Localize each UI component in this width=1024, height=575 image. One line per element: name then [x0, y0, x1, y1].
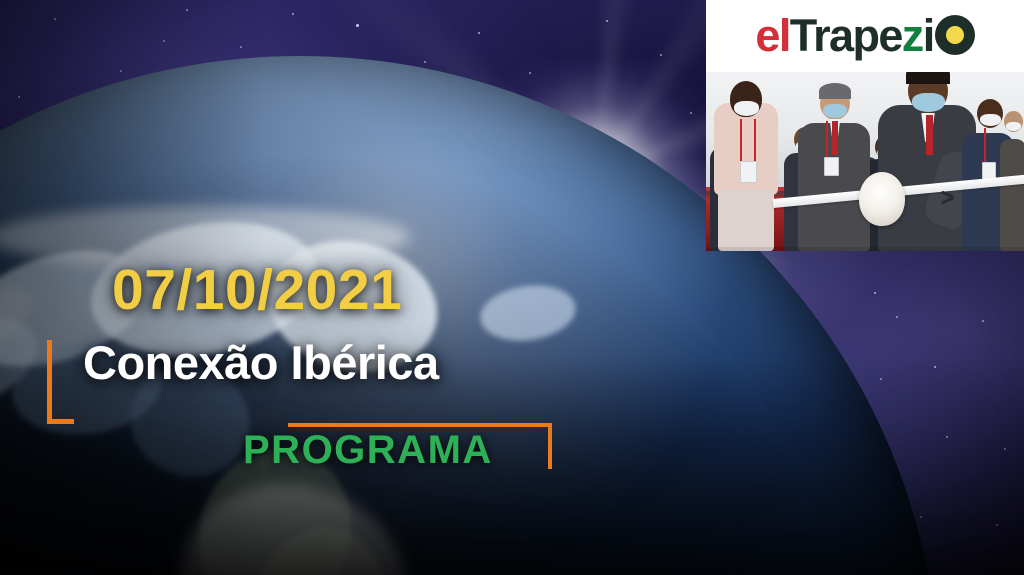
brand-text-el: el — [755, 13, 789, 58]
program-name: Conexão Ibérica — [83, 337, 439, 389]
brand-text-trape: Trape — [790, 13, 902, 58]
media-panel: el Trape z i — [706, 0, 1024, 251]
broadcast-date: 07/10/2021 — [112, 262, 567, 319]
photo-person-foreground-left — [714, 83, 778, 251]
brand-text-i: i — [923, 13, 934, 58]
brand-text-z: z — [902, 13, 923, 58]
program-kicker: PROGRAMA — [243, 430, 493, 470]
photo-rosette — [859, 172, 905, 226]
brand-letter-o-icon — [935, 15, 975, 55]
title-bracket-group: Conexão Ibérica PROGRAMA — [47, 340, 567, 468]
program-title-block: 07/10/2021 Conexão Ibérica PROGRAMA — [47, 262, 567, 468]
bracket-left-icon — [47, 340, 74, 424]
brand-logo-band: el Trape z i — [706, 0, 1024, 72]
news-photo — [706, 72, 1024, 251]
brand-o-dot — [946, 26, 964, 44]
photo-bottom-edge — [706, 247, 1024, 251]
photo-scissors-icon — [941, 190, 957, 206]
brand-logo[interactable]: el Trape z i — [755, 13, 974, 60]
photo-person-center — [798, 91, 870, 251]
slide-canvas: 07/10/2021 Conexão Ibérica PROGRAMA el T… — [0, 0, 1024, 575]
